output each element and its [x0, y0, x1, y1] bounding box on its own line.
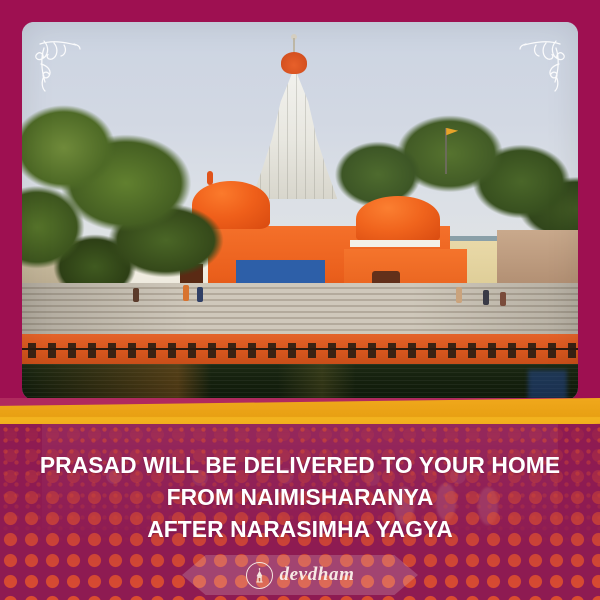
temple-dome-right	[356, 196, 440, 242]
ghat-railing-bar	[22, 348, 578, 350]
pilgrim-figure	[500, 292, 506, 306]
temple-cornice	[350, 240, 440, 247]
headline: PRASAD WILL BE DELIVERED TO YOUR HOME FR…	[9, 450, 591, 546]
flourish-ornament-icon	[504, 30, 570, 96]
logo-wordmark: devdham	[280, 564, 355, 586]
trees-left	[22, 82, 228, 301]
ghat-steps-shading	[22, 283, 578, 336]
logo-banner[interactable]: devdham	[182, 555, 418, 595]
water-blue-reflection	[528, 370, 567, 400]
poster-canvas: PRASAD WILL BE DELIVERED TO YOUR HOME FR…	[0, 0, 600, 600]
headline-line-1: PRASAD WILL BE DELIVERED TO YOUR HOME	[9, 450, 591, 482]
pilgrim-figure	[183, 285, 189, 301]
pilgrim-figure	[456, 287, 462, 303]
logo-lockup: devdham	[246, 562, 355, 589]
hero-photo	[22, 22, 578, 400]
pilgrim-figure	[133, 288, 139, 302]
pilgrim-figure	[197, 287, 203, 302]
flourish-ornament-icon	[30, 30, 96, 96]
headline-line-2: FROM NAIMISHARANYA	[9, 482, 591, 514]
kalash-icon	[281, 52, 307, 74]
pilgrim-figure	[483, 290, 489, 305]
water-reflections	[22, 364, 578, 400]
headline-line-3: AFTER NARASIMHA YAGYA	[9, 514, 591, 546]
temple-glyph	[251, 567, 268, 584]
temple-photograph	[22, 22, 578, 400]
temple-icon	[246, 562, 273, 589]
